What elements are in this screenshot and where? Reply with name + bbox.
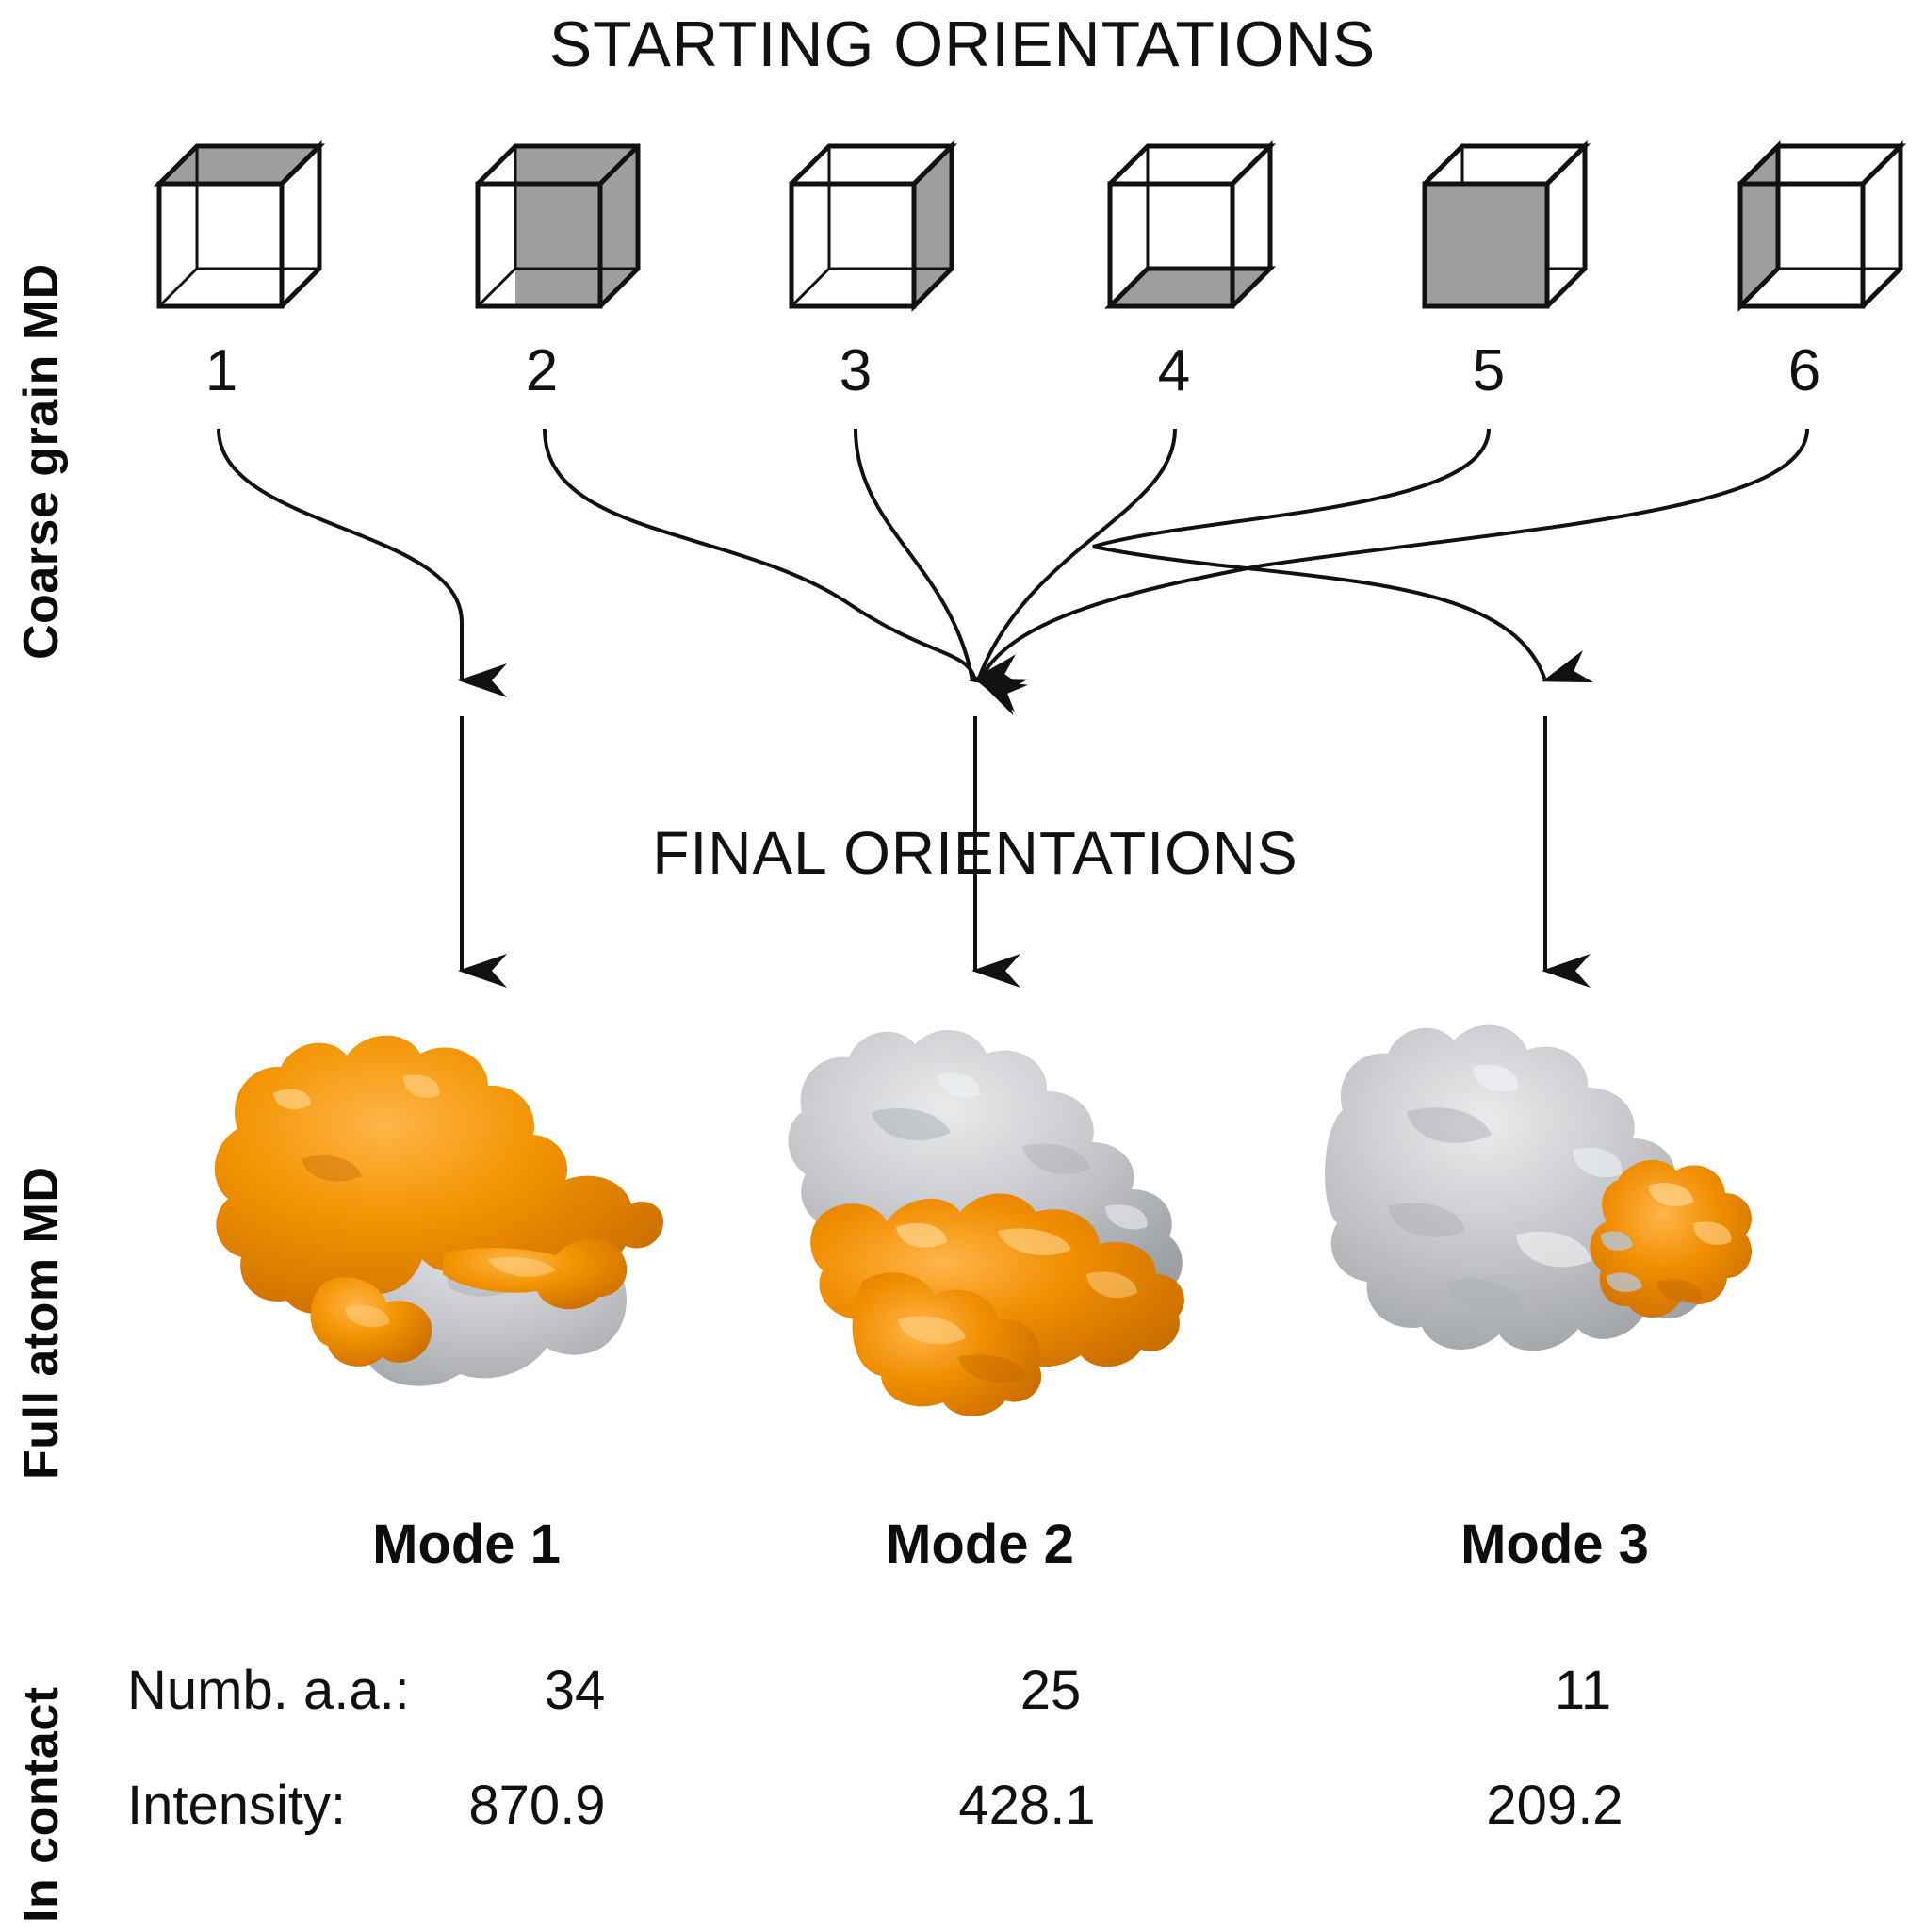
flow-path-1	[219, 429, 462, 680]
table-row-intensity: Intensity: 870.9 428.1 209.2	[0, 1774, 1925, 1889]
flow-path-6	[980, 429, 1807, 680]
cube-5-icon	[1382, 132, 1608, 320]
cell-intensity-mode-1: 870.9	[377, 1774, 697, 1837]
flow-path-4	[978, 429, 1175, 680]
cube-4[interactable]	[1068, 132, 1294, 320]
full-atom-molecule-row	[0, 971, 1925, 1480]
figure-canvas: STARTING ORIENTATIONS FINAL ORIENTATIONS…	[0, 0, 1925, 1932]
mode-label-2: Mode 2	[782, 1513, 1178, 1576]
mode-label-3: Mode 3	[1357, 1513, 1753, 1576]
cube-number-2: 2	[485, 337, 598, 404]
side-label-coarse-grain-md: Coarse grain MD	[13, 263, 70, 660]
cube-number-4: 4	[1117, 337, 1231, 404]
cell-intensity-mode-2: 428.1	[867, 1774, 1187, 1837]
starting-orientation-cube-row	[0, 132, 1925, 320]
cell-intensity-mode-3: 209.2	[1395, 1774, 1715, 1837]
cube-3[interactable]	[749, 132, 975, 320]
row-label-intensity: Intensity:	[127, 1774, 346, 1837]
final-orientations-title: FINAL ORIENTATIONS	[113, 818, 1837, 888]
cube-6[interactable]	[1698, 132, 1924, 320]
cube-number-6: 6	[1748, 337, 1861, 404]
cube-2-icon	[435, 132, 661, 320]
cube-3-icon	[749, 132, 975, 320]
cube-1[interactable]	[117, 132, 343, 320]
cell-numb-aa-mode-2: 25	[890, 1659, 1211, 1722]
mode-label-1: Mode 1	[269, 1513, 664, 1576]
cube-5[interactable]	[1382, 132, 1608, 320]
cube-number-1: 1	[165, 337, 278, 404]
molecule-mode-1[interactable]	[160, 971, 688, 1480]
cube-2[interactable]	[435, 132, 661, 320]
cube-number-3: 3	[799, 337, 912, 404]
cell-numb-aa-mode-3: 11	[1423, 1659, 1743, 1722]
starting-orientations-title: STARTING ORIENTATIONS	[0, 8, 1925, 81]
cube-1-icon	[117, 132, 343, 320]
row-label-numb-aa: Numb. a.a.:	[127, 1659, 410, 1722]
protein-surface-mode-2-icon	[711, 971, 1239, 1480]
molecule-mode-2[interactable]	[711, 971, 1239, 1480]
molecule-mode-3[interactable]	[1267, 971, 1795, 1480]
flow-path-3	[856, 429, 972, 680]
cube-6-icon	[1698, 132, 1924, 320]
cube-number-5: 5	[1432, 337, 1545, 404]
protein-surface-mode-1-icon	[160, 971, 688, 1480]
table-row-numb-aa: Numb. a.a.: 34 25 11	[0, 1659, 1925, 1774]
cube-4-icon	[1068, 132, 1294, 320]
protein-surface-mode-3-icon	[1267, 971, 1795, 1480]
flow-path-2	[545, 429, 975, 680]
flow-path-5	[1093, 429, 1545, 680]
in-contact-data-table: Numb. a.a.: 34 25 11 Intensity: 870.9 42…	[0, 1659, 1925, 1889]
cell-numb-aa-mode-1: 34	[415, 1659, 735, 1722]
